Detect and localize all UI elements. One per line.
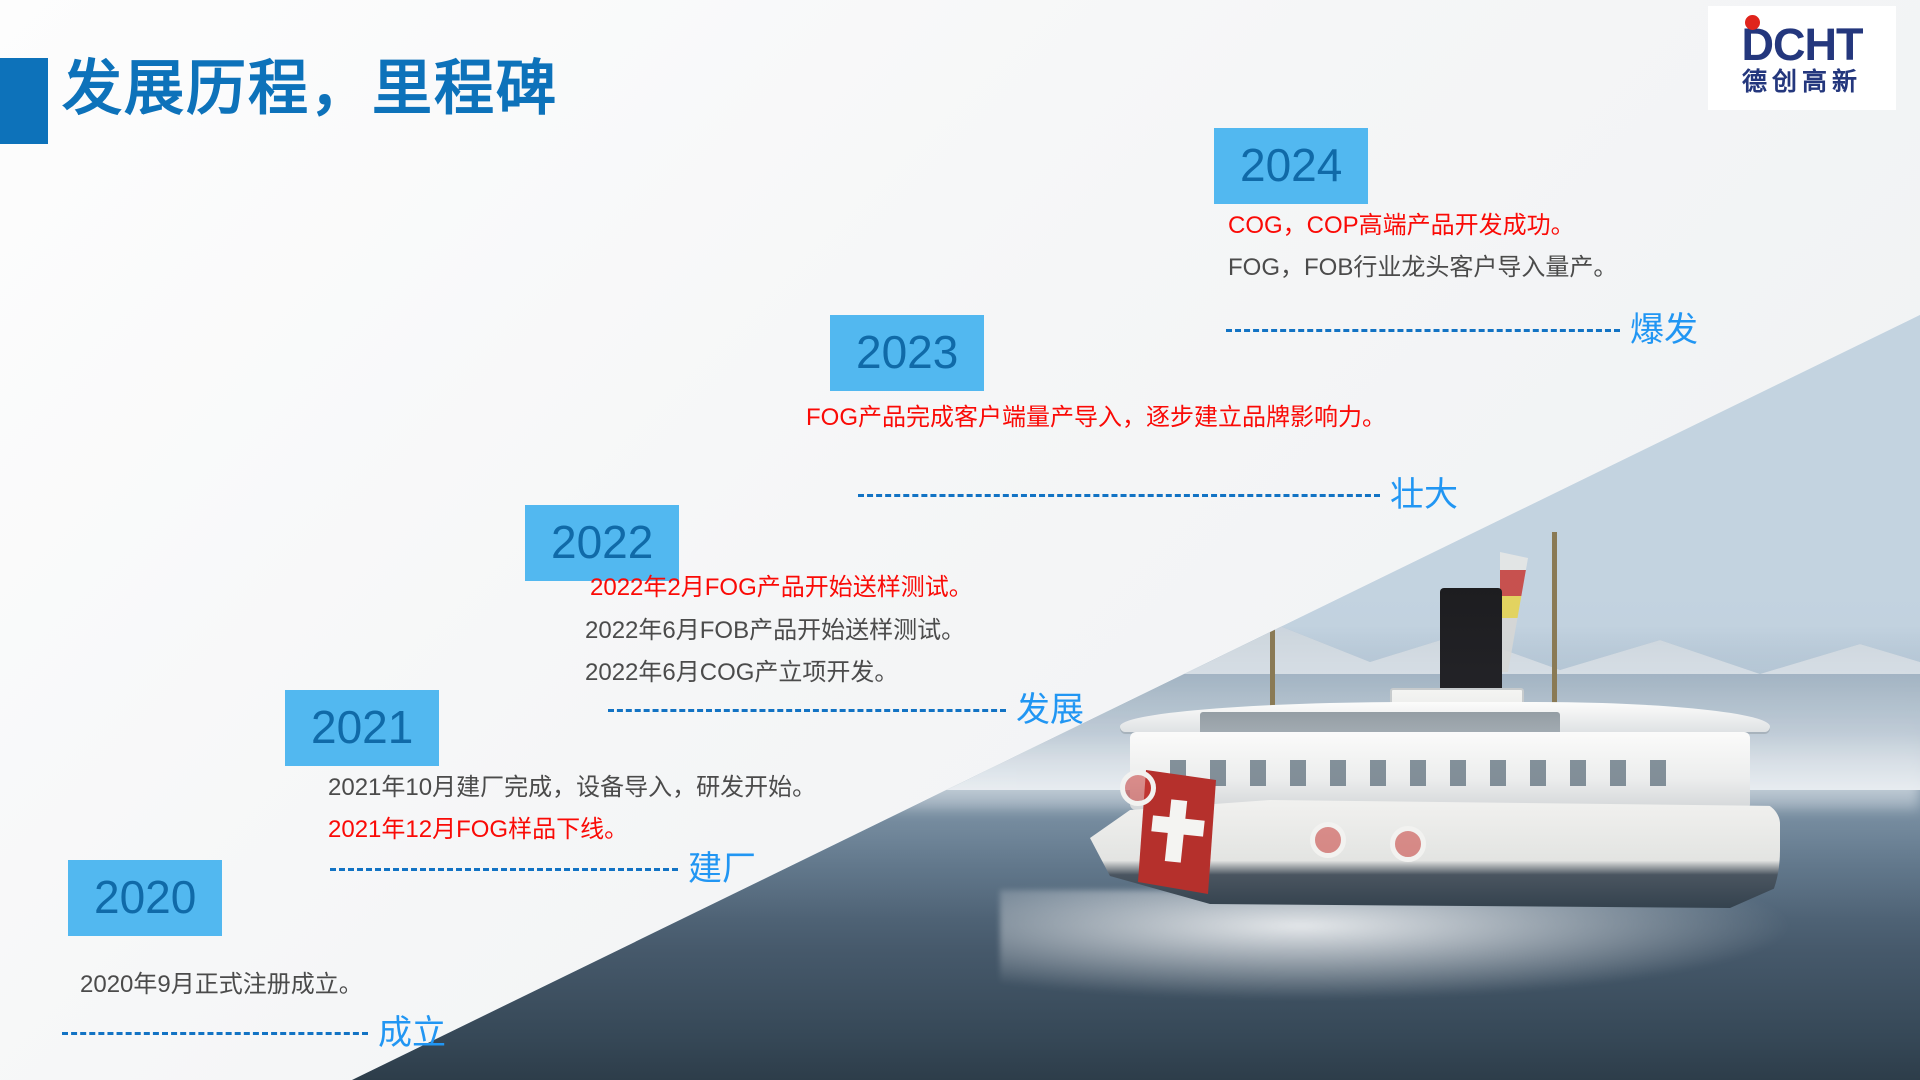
stage-label: 爆发: [1630, 313, 1698, 347]
milestone-line: 2022年6月FOB产品开始送样测试。: [585, 608, 965, 654]
milestone-line: 2021年12月FOG样品下线。: [328, 807, 628, 853]
stage-connector: 建厂: [330, 852, 756, 886]
year-badge[interactable]: 2024: [1214, 128, 1368, 204]
milestone-line: FOG产品完成客户端量产导入，逐步建立品牌影响力。: [806, 395, 1386, 441]
lifebuoy-icon: [1120, 770, 1156, 806]
title-accent-bar: [0, 58, 48, 144]
stage-label: 发展: [1016, 693, 1084, 727]
hero-photo: [0, 0, 1920, 1080]
dashed-line: [858, 494, 1380, 497]
signal-flags: [1500, 552, 1540, 672]
stage-connector: 壮大: [858, 478, 1458, 512]
paddle-steamer: [1060, 470, 1800, 990]
logo-wordmark: DCHT: [1742, 22, 1863, 67]
stage-label: 成立: [378, 1016, 446, 1050]
slide-canvas: 发展历程，里程碑 DCHT 德创高新 2024 COG，COP高端产品开发成功。…: [0, 0, 1920, 1080]
stage-label: 壮大: [1390, 478, 1458, 512]
dashed-line: [1226, 329, 1620, 332]
year-badge[interactable]: 2023: [830, 315, 984, 391]
dashed-line: [62, 1032, 368, 1035]
logo-dot-icon: [1745, 15, 1760, 30]
milestone-line: 2021年10月建厂完成，设备导入，研发开始。: [328, 765, 816, 811]
milestone-line: 2022年2月FOG产品开始送样测试。: [590, 565, 973, 611]
milestone-line: 2020年9月正式注册成立。: [80, 962, 363, 1008]
logo-chinese-text: 德创高新: [1742, 70, 1862, 95]
stage-label: 建厂: [688, 852, 756, 886]
lifebuoy-icon: [1390, 826, 1426, 862]
milestone-line: 2022年6月COG产立项开发。: [585, 650, 898, 696]
stage-connector: 发展: [608, 693, 1084, 727]
year-badge[interactable]: 2020: [68, 860, 222, 936]
logo-latin-text: DCHT: [1742, 22, 1863, 67]
year-badge[interactable]: 2021: [285, 690, 439, 766]
cabin-windows: [1170, 760, 1690, 786]
page-title: 发展历程，里程碑: [62, 40, 558, 127]
company-logo: DCHT 德创高新: [1708, 6, 1896, 110]
milestone-line: FOG，FOB行业龙头客户导入量产。: [1228, 245, 1617, 291]
stage-connector: 爆发: [1226, 313, 1698, 347]
dashed-line: [330, 868, 678, 871]
ship-wake: [1000, 890, 1860, 1010]
lifebuoy-icon: [1310, 822, 1346, 858]
stage-connector: 成立: [62, 1016, 446, 1050]
milestone-line: COG，COP高端产品开发成功。: [1228, 203, 1575, 249]
dashed-line: [608, 709, 1006, 712]
